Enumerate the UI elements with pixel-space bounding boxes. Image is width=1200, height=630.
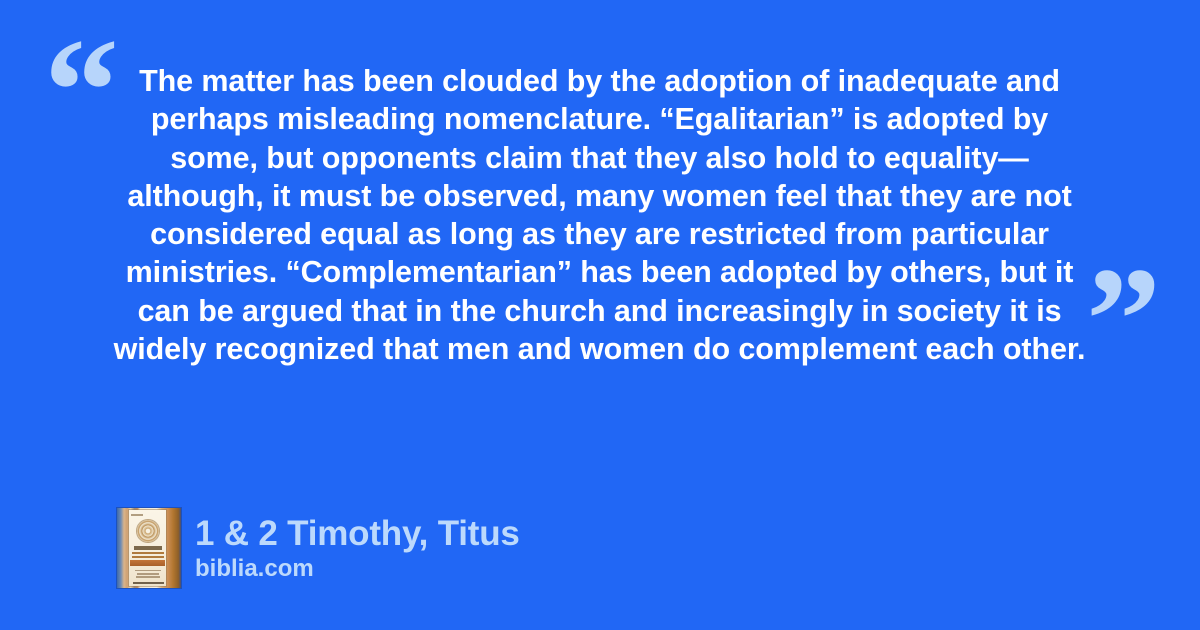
cover-subtext-3 bbox=[136, 576, 160, 578]
quote-block: The matter has been clouded by the adopt… bbox=[112, 62, 1087, 368]
cover-top-line bbox=[131, 514, 143, 516]
cover-subtext-1 bbox=[135, 570, 161, 572]
book-cover-thumbnail[interactable] bbox=[117, 508, 181, 588]
cover-title-band bbox=[130, 560, 165, 566]
quote-card: “ The matter has been clouded by the ado… bbox=[0, 0, 1200, 630]
cover-series-line-2 bbox=[132, 556, 164, 558]
closing-quote-mark-icon: ” bbox=[1086, 245, 1159, 395]
attribution-text: 1 & 2 Timothy, Titus biblia.com bbox=[195, 514, 520, 583]
cover-medallion-icon bbox=[137, 520, 159, 542]
site-url[interactable]: biblia.com bbox=[195, 555, 520, 583]
attribution: 1 & 2 Timothy, Titus biblia.com bbox=[117, 508, 520, 588]
opening-quote-mark-icon: “ bbox=[44, 16, 117, 166]
cover-series-line-1 bbox=[132, 552, 164, 554]
cover-subtext-2 bbox=[137, 573, 159, 575]
cover-niv-label bbox=[134, 546, 162, 550]
cover-author-line bbox=[133, 582, 164, 584]
quote-text: The matter has been clouded by the adopt… bbox=[112, 62, 1087, 368]
book-title: 1 & 2 Timothy, Titus bbox=[195, 514, 520, 554]
